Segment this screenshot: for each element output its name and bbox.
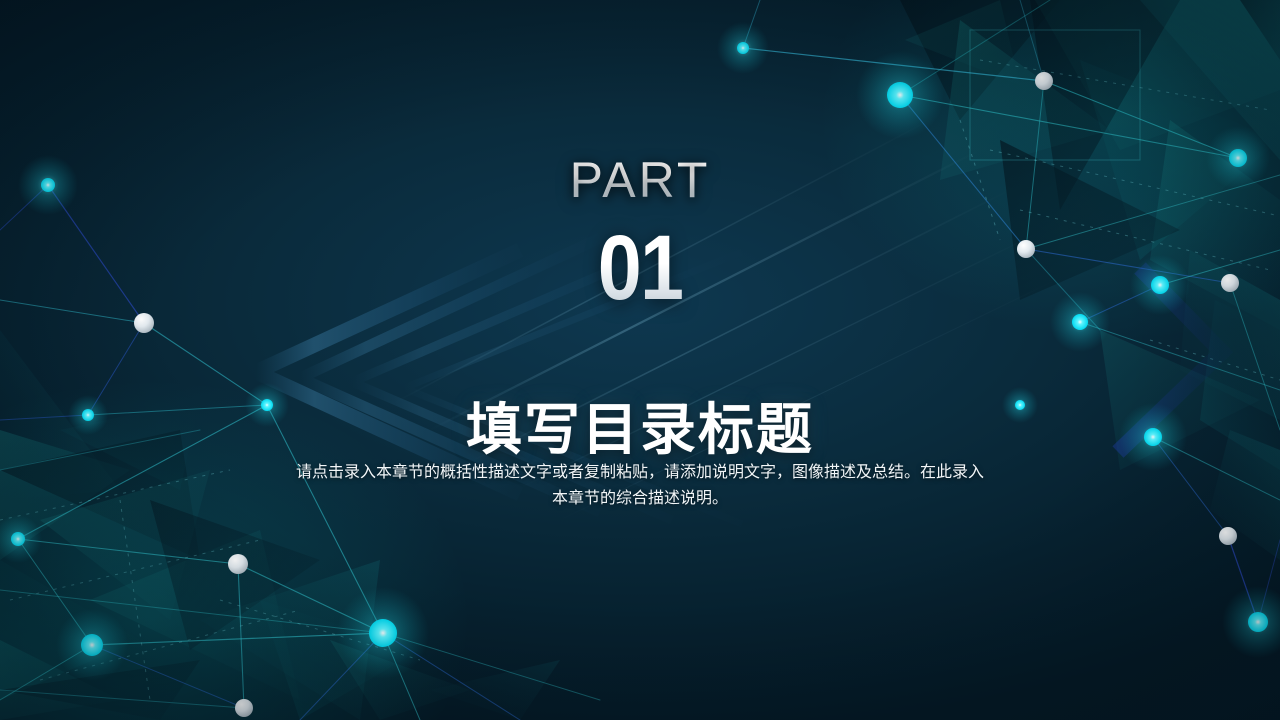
slide-canvas: PART 01 填写目录标题 请点击录入本章节的概括性描述文字或者复制粘贴，请添… xyxy=(0,0,1280,720)
part-label: PART xyxy=(0,155,1280,205)
slide-content: PART 01 填写目录标题 请点击录入本章节的概括性描述文字或者复制粘贴，请添… xyxy=(0,0,1280,720)
section-title: 填写目录标题 xyxy=(0,400,1280,460)
section-description: 请点击录入本章节的概括性描述文字或者复制粘贴，请添加说明文字，图像描述及总结。在… xyxy=(295,460,985,512)
part-number: 01 xyxy=(90,222,1191,314)
